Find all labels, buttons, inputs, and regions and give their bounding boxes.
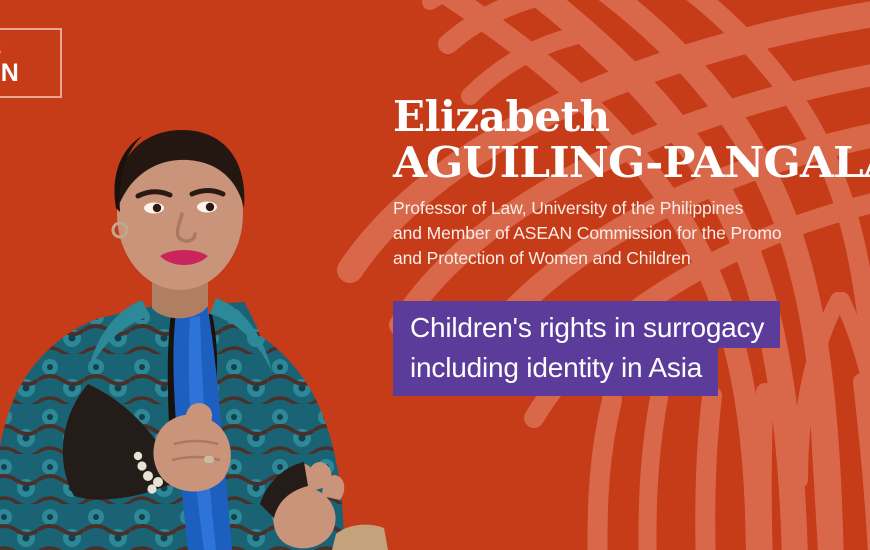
speaker-slide: erts P IN [0,0,870,550]
affiliation-line-3: and Protection of Women and Children [393,246,870,271]
talk-title-line-2: including identity in Asia [393,348,718,396]
speaker-affiliation: Professor of Law, University of the Phil… [393,196,870,271]
speaker-text-block: Elizabeth AGUILING-PANGALANGAN Professor… [393,96,870,271]
badge-line-1: erts [0,40,60,60]
speaker-first-name: Elizabeth [393,96,870,138]
speaker-portrait [0,104,392,550]
badge-line-2: P IN [0,60,60,86]
affiliation-line-2: and Member of ASEAN Commission for the P… [393,221,870,246]
speaker-last-name: AGUILING-PANGALANGAN [393,141,870,185]
affiliation-line-1: Professor of Law, University of the Phil… [393,196,870,221]
talk-title-box: Children's rights in surrogacy including… [393,301,780,396]
series-badge: erts P IN [0,28,62,98]
talk-title-line-1: Children's rights in surrogacy [393,301,780,348]
